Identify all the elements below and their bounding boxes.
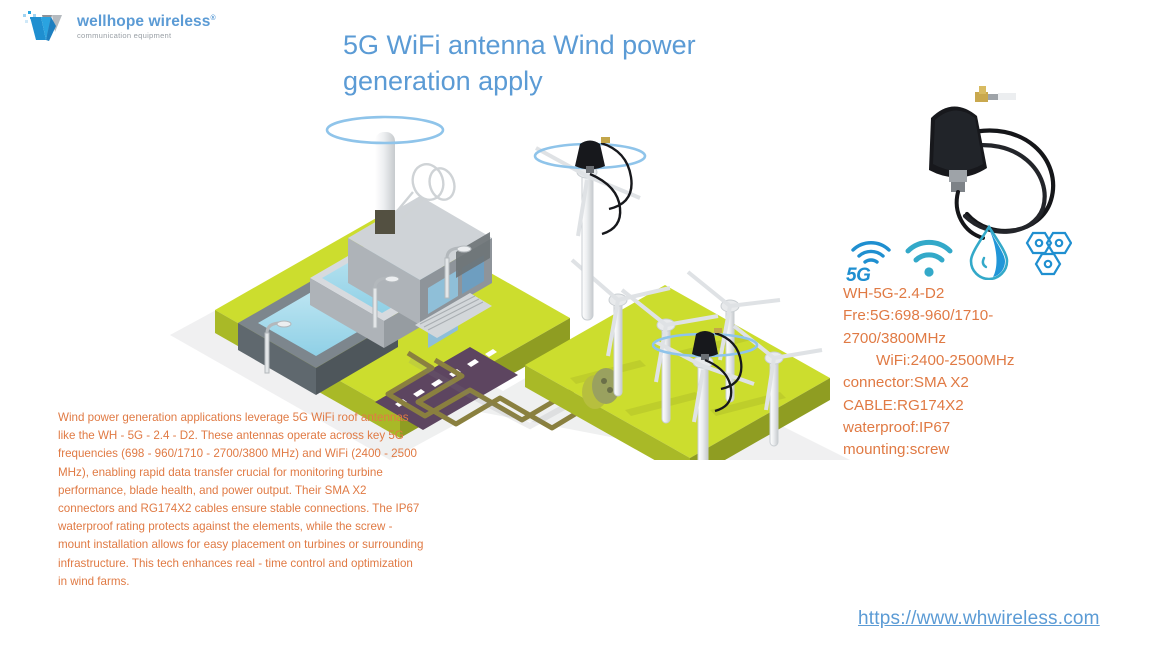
brand-logo: wellhope wireless® communication equipme… bbox=[22, 10, 216, 44]
screw-mounting-hex-icon bbox=[1020, 230, 1072, 285]
spec-waterproof: waterproof:IP67 bbox=[843, 417, 1133, 439]
spec-frequency-2: 2700/3800MHz bbox=[843, 328, 1133, 350]
spec-frequency-wifi: WiFi:2400-2500MHz bbox=[843, 350, 1133, 372]
spec-frequency-1: Fre:5G:698-960/1710- bbox=[843, 305, 1133, 327]
spec-cable: CABLE:RG174X2 bbox=[843, 395, 1133, 417]
spec-mounting: mounting:screw bbox=[843, 439, 1133, 461]
wifi-icon bbox=[903, 236, 955, 285]
website-url-link[interactable]: https://www.whwireless.com bbox=[858, 608, 1100, 630]
feature-icon-row: 5G bbox=[845, 215, 1055, 285]
page-title: 5G WiFi antenna Wind power generation ap… bbox=[343, 28, 813, 99]
spec-model: WH-5G-2.4-D2 bbox=[843, 283, 1133, 305]
brand-tagline: communication equipment bbox=[77, 32, 216, 40]
illustration-stage bbox=[170, 110, 850, 460]
waterproof-droplet-icon bbox=[967, 224, 1011, 285]
5g-signal-icon: 5G bbox=[845, 228, 897, 285]
right-scene-wind-farm bbox=[525, 137, 830, 460]
brand-name: wellhope wireless® bbox=[77, 14, 216, 30]
sma-connector bbox=[975, 86, 1016, 102]
spec-connector: connector:SMA X2 bbox=[843, 372, 1133, 394]
brand-logo-text: wellhope wireless® communication equipme… bbox=[77, 14, 216, 39]
poster-canvas: wellhope wireless® communication equipme… bbox=[0, 0, 1152, 648]
wellhope-w-logo-icon bbox=[22, 10, 70, 44]
spec-list: WH-5G-2.4-D2 Fre:5G:698-960/1710- 2700/3… bbox=[843, 283, 1133, 462]
description-paragraph: Wind power generation applications lever… bbox=[58, 409, 424, 591]
registered-mark: ® bbox=[211, 15, 216, 22]
